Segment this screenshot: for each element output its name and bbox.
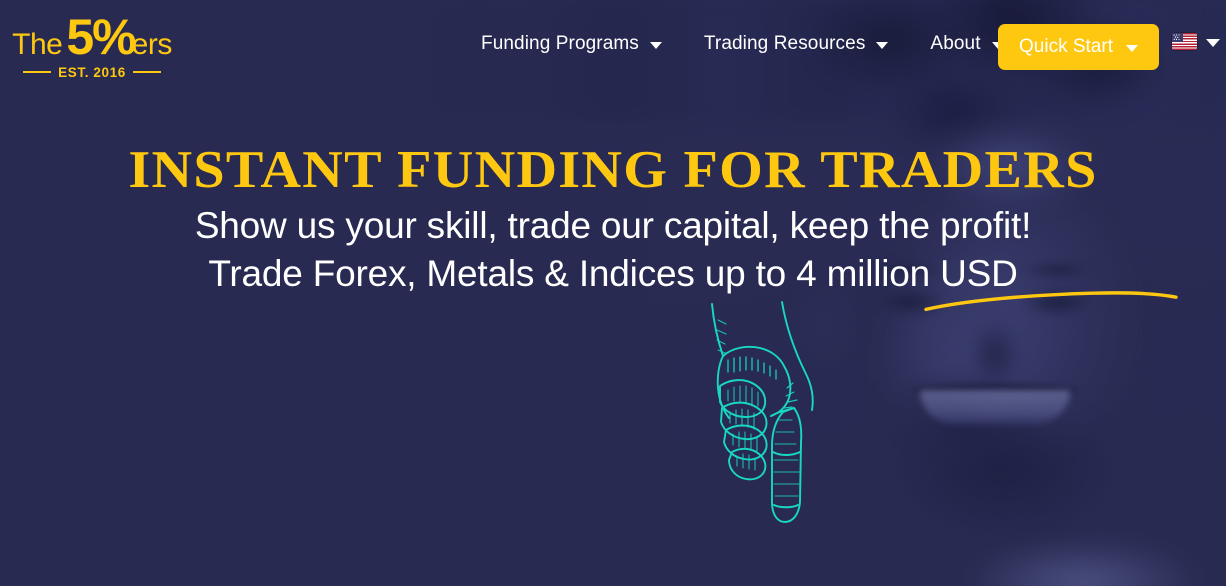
logo-text-five: 5%: [66, 14, 134, 62]
logo-established-text: EST. 2016: [58, 65, 126, 80]
chevron-down-icon: [650, 42, 662, 49]
quick-start-button[interactable]: Quick Start: [998, 24, 1159, 70]
hero-subheadline-block: Show us your skill, trade our capital, k…: [0, 204, 1226, 295]
nav-item-trading-resources[interactable]: Trading Resources: [683, 22, 910, 66]
hero-copy: INSTANT FUNDING FOR TRADERS Show us your…: [0, 142, 1226, 295]
hero-subheadline-line-1: Show us your skill, trade our capital, k…: [0, 204, 1226, 248]
logo-rule-right: [133, 71, 161, 73]
site-logo[interactable]: The 5% ers EST. 2016: [8, 14, 176, 80]
quick-start-label: Quick Start: [1019, 36, 1113, 58]
chevron-down-icon: [1206, 39, 1220, 47]
nav-label-trading-resources: Trading Resources: [704, 33, 866, 55]
site-header: The 5% ers EST. 2016 Funding Programs Tr…: [0, 0, 1226, 88]
hero-subheadline-line-2: Trade Forex, Metals & Indices up to 4 mi…: [0, 252, 1226, 296]
nav-label-funding-programs: Funding Programs: [481, 33, 639, 55]
chevron-down-icon: [1126, 45, 1138, 52]
logo-established-row: EST. 2016: [8, 65, 176, 80]
nav-label-about: About: [930, 33, 980, 55]
chevron-down-icon: [876, 42, 888, 49]
language-selector[interactable]: [1172, 33, 1220, 50]
logo-wordmark: The 5% ers: [8, 14, 176, 62]
main-navigation: Funding Programs Trading Resources About: [460, 0, 1025, 88]
hero-section: The 5% ers EST. 2016 Funding Programs Tr…: [0, 0, 1226, 586]
hero-headline: INSTANT FUNDING FOR TRADERS: [0, 142, 1226, 198]
us-flag-icon: [1172, 33, 1197, 50]
nav-item-funding-programs[interactable]: Funding Programs: [460, 22, 683, 66]
logo-text-ers: ers: [132, 31, 172, 60]
logo-text-the: The: [12, 31, 62, 60]
logo-rule-left: [23, 71, 51, 73]
pointing-hand-down-icon: [688, 300, 848, 540]
